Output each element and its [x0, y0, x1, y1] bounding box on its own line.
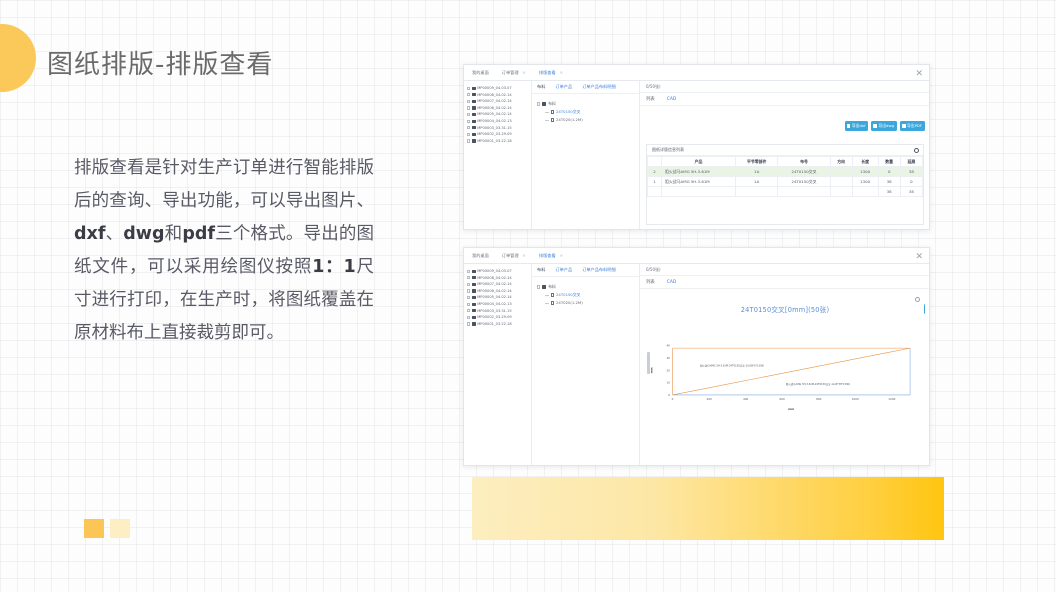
tab-list[interactable]: 列表: [646, 279, 655, 285]
folder-icon: [472, 309, 476, 312]
table-header-cell: [648, 157, 662, 167]
x-axis-tick: 400: [743, 397, 749, 401]
folder-icon: [472, 100, 476, 103]
tree-line: [545, 303, 549, 304]
table-cell: 阻火战马AMG 5H-3.61M: [662, 177, 736, 187]
nav-tab-label: 我的桌面: [472, 70, 489, 76]
table-cell: [852, 187, 878, 197]
checkbox-icon[interactable]: [467, 120, 470, 123]
file-icon: [551, 301, 554, 305]
tree-item-label: MP00004_04.02.13: [477, 118, 512, 125]
file-icon: [551, 118, 554, 122]
export-pdf-label: 导出PDF: [907, 123, 922, 129]
checkbox-icon[interactable]: [467, 309, 470, 312]
table-header-cell: 数量: [878, 157, 900, 167]
chart-title: 24T0150交叉[0mm](50张): [646, 304, 924, 314]
tree-item[interactable]: MP00008_04.02.14: [467, 92, 529, 99]
table-cell: 1: [648, 177, 662, 187]
x-axis-tick: 1000: [852, 397, 859, 401]
cad-chart-card: 24T0150交叉[0mm](50张) 01020304002004006008…: [646, 294, 924, 461]
folder-icon: [472, 296, 476, 299]
fabric-panel: 布料 订单产品 订单产品布料明细 布料 24T0150交叉: [532, 264, 640, 465]
tree-item-label: MP00002_03.29.09: [477, 131, 512, 138]
folder-icon: [472, 322, 476, 325]
table-header-cell: 平节零部件: [736, 157, 778, 167]
table-header-cell: 方向: [830, 157, 852, 167]
folder-icon: [472, 93, 476, 96]
checkbox-icon[interactable]: [467, 289, 470, 292]
nav-tab-label: 排版查看: [539, 70, 556, 76]
close-icon[interactable]: ✕: [560, 70, 563, 75]
nav-tab-label: 订单管理: [502, 253, 519, 259]
file-icon: [551, 110, 554, 114]
table-cell: 24T0150交叉: [778, 177, 830, 187]
tree-item-label: MP00008_04.02.14: [477, 275, 512, 282]
nav-tab-orders[interactable]: 订单管理 ✕: [502, 253, 526, 259]
tab-cad[interactable]: CAD: [667, 97, 676, 102]
checkbox-icon[interactable]: [467, 87, 470, 90]
table-cell: [830, 187, 852, 197]
table-cell: 2: [648, 167, 662, 177]
fabric-tree-child[interactable]: 24T020(1.2M): [537, 116, 639, 124]
table-row[interactable]: 2阻火战马AMG 5H-3.61M1A24T0150交叉1300038: [648, 167, 923, 177]
checkbox-icon[interactable]: [467, 270, 470, 273]
table-caption-label: 图纸详版信息列表: [652, 147, 684, 153]
table-cell: 0: [878, 167, 900, 177]
folder-icon: [472, 126, 476, 129]
folder-icon: [472, 316, 476, 319]
y-axis-tick: 10: [666, 381, 670, 385]
table-caption: 图纸详版信息列表: [647, 145, 923, 156]
nav-tab-layout-view[interactable]: 排版查看 ✕: [539, 70, 563, 76]
table-cell: 38: [878, 187, 900, 197]
tree-item[interactable]: MP00002_03.29.09: [467, 131, 529, 138]
tree-item[interactable]: MP00009_04.03.07: [467, 85, 529, 92]
close-icon[interactable]: ✕: [915, 253, 923, 262]
layout-detail-table-card: 图纸详版信息列表 产品平节零部件布号方向长度数量延展 2阻火战马AMG 5H-3…: [646, 144, 924, 225]
sheet-count-label: 0/50张): [640, 264, 929, 276]
folder-icon: [472, 270, 476, 273]
tree-item[interactable]: MP00006_04.02.14: [467, 288, 529, 295]
export-icon: [847, 124, 851, 128]
gear-icon[interactable]: [915, 297, 920, 302]
folder-icon: [472, 283, 476, 286]
decorative-gradient-bar: [472, 477, 944, 540]
tab-order-product[interactable]: 订单产品: [555, 84, 572, 90]
export-pdf-button[interactable]: 导出PDF: [900, 121, 925, 131]
checkbox-icon[interactable]: [467, 106, 470, 109]
nav-tab-label: 订单管理: [502, 70, 519, 76]
tree-item[interactable]: MP00002_03.29.09: [467, 314, 529, 321]
checkbox-icon[interactable]: [467, 283, 470, 286]
order-tree-panel: MP00009_04.03.07MP00008_04.02.14MP00007_…: [464, 81, 532, 229]
fabric-panel: 布料 订单产品 订单产品布料明细 布料 24T0150交叉: [532, 81, 640, 229]
export-icon: [902, 124, 906, 128]
tree-item[interactable]: MP00009_04.03.07: [467, 268, 529, 275]
folder-icon: [472, 139, 476, 142]
expand-icon[interactable]: [537, 102, 540, 105]
tree-item-label: MP00003_03.31.15: [477, 125, 512, 132]
tree-item-label: MP00001_03.22.18: [477, 138, 512, 145]
folder-icon: [472, 289, 476, 292]
chart-svg: 010203040020040060080010001200阻火战马AMG 5H…: [646, 320, 924, 432]
tree-item-label: MP00005_04.02.14: [477, 111, 512, 118]
tab-fabric[interactable]: 布料: [537, 267, 545, 273]
checkbox-icon[interactable]: [467, 113, 470, 116]
table-cell: 24T0150交叉: [778, 167, 830, 177]
fabric-tab-strip: 布料 订单产品 订单产品布料明细: [532, 264, 639, 277]
chart-annotation: 阻火战马AMG 5H-3.61M-24T0150交叉-1A(0*38*1300): [786, 382, 850, 386]
tree-line: [545, 112, 549, 113]
nav-tab-layout-view[interactable]: 排版查看 ✕: [539, 253, 563, 259]
tree-item[interactable]: MP00004_04.02.13: [467, 301, 529, 308]
table-cell: 1A: [736, 167, 778, 177]
checkbox-icon[interactable]: [467, 296, 470, 299]
nav-tab-strip: 我的桌面 订单管理 ✕ 排版查看 ✕: [464, 248, 929, 264]
tree-item[interactable]: MP00006_04.02.14: [467, 105, 529, 112]
file-icon: [551, 293, 554, 297]
tree-item-label: MP00003_03.31.15: [477, 308, 512, 315]
table-cell: [778, 187, 830, 197]
tree-item[interactable]: MP00007_04.02.14: [467, 98, 529, 105]
folder-icon: [542, 285, 546, 288]
table-cell: [648, 187, 662, 197]
cad-panel: 0/50张) 列表 CAD 导出dxf 导出dwg 导出PDF: [640, 264, 929, 465]
tree-item[interactable]: MP00005_04.02.14: [467, 294, 529, 301]
gear-icon[interactable]: [914, 148, 919, 153]
x-axis-tick: 600: [780, 397, 786, 401]
y-axis-label: mm: [649, 367, 653, 373]
close-icon[interactable]: ✕: [915, 70, 923, 79]
tree-item[interactable]: MP00005_04.02.14: [467, 111, 529, 118]
tab-fabric[interactable]: 布料: [537, 84, 545, 90]
export-dxf-button[interactable]: 导出dxf: [845, 121, 869, 131]
checkbox-icon[interactable]: [467, 93, 470, 96]
fabric-tree-child[interactable]: 24T020(1.2M): [537, 299, 639, 307]
tree-item-label: MP00007_04.02.14: [477, 281, 512, 288]
chart-annotation: 阻火战马AMG 5H-3.61M-24T0150交叉-1A(38*0*1300): [700, 364, 764, 368]
export-dxf-label: 导出dxf: [852, 123, 866, 129]
tree-line: [545, 120, 549, 121]
y-axis-tick: 20: [666, 368, 670, 372]
nav-tab-desktop[interactable]: 我的桌面: [472, 253, 489, 259]
close-icon[interactable]: ✕: [560, 253, 563, 258]
checkbox-icon[interactable]: [467, 316, 470, 319]
checkbox-icon[interactable]: [467, 139, 470, 142]
x-axis-label: mm: [788, 407, 794, 411]
checkbox-icon[interactable]: [467, 133, 470, 136]
tab-order-product-fabric-detail[interactable]: 订单产品布料明细: [582, 267, 616, 273]
table-cell: 0: [900, 177, 922, 187]
folder-icon: [472, 133, 476, 136]
screenshot-window-list: ✕ 我的桌面 订单管理 ✕ 排版查看 ✕ MP00009_04.03.07MP0…: [463, 64, 930, 230]
table-cell: 38: [878, 177, 900, 187]
table-cell: [830, 177, 852, 187]
folder-icon: [542, 102, 546, 105]
fabric-tree-child-label: 24T0150交叉: [556, 108, 580, 116]
tree-item-label: MP00001_03.22.18: [477, 321, 512, 328]
table-header-row: 产品平节零部件布号方向长度数量延展: [648, 157, 923, 167]
chart-plot-area: 010203040020040060080010001200阻火战马AMG 5H…: [646, 320, 924, 432]
fabric-tree-root[interactable]: 布料: [537, 100, 639, 108]
table-header-cell: 布号: [778, 157, 830, 167]
tree-item-label: MP00002_03.29.09: [477, 314, 512, 321]
tree-item[interactable]: MP00001_03.22.18: [467, 138, 529, 145]
nav-tab-desktop[interactable]: 我的桌面: [472, 70, 489, 76]
tree-item-label: MP00004_04.02.13: [477, 301, 512, 308]
nav-tab-label: 排版查看: [539, 253, 556, 259]
detail-tab-strip: 列表 CAD: [640, 276, 929, 289]
folder-icon: [472, 106, 476, 109]
folder-icon: [472, 87, 476, 90]
fabric-tree-root[interactable]: 布料: [537, 283, 639, 291]
fabric-tree-root-label: 布料: [548, 283, 556, 291]
checkbox-icon[interactable]: [467, 100, 470, 103]
x-axis-tick: 0: [672, 397, 674, 401]
fabric-tree-child[interactable]: 24T0150交叉: [537, 291, 639, 299]
folder-icon: [472, 276, 476, 279]
y-axis-tick: 0: [668, 393, 670, 397]
folder-icon: [472, 303, 476, 306]
tab-order-product[interactable]: 订单产品: [555, 267, 572, 273]
table-header-cell: 延展: [900, 157, 922, 167]
table-header-cell: 产品: [662, 157, 736, 167]
sheet-count-label: 0/50张): [640, 81, 929, 93]
chart-series-diagonal: [673, 348, 911, 395]
close-icon[interactable]: ✕: [523, 70, 526, 75]
tab-cad[interactable]: CAD: [667, 280, 676, 285]
detail-panel: 0/50张) 列表 CAD 导出dxf 导出dwg 导出PDF: [640, 81, 929, 229]
body-paragraph: 排版查看是针对生产订单进行智能排版后的查询、导出功能，可以导出图片、dxf、dw…: [74, 152, 374, 350]
y-axis-tick: 30: [666, 356, 670, 360]
nav-tab-label: 我的桌面: [472, 253, 489, 259]
export-icon: [873, 124, 877, 128]
tree-item-label: MP00009_04.03.07: [477, 268, 512, 275]
x-axis-tick: 1200: [888, 397, 895, 401]
checkbox-icon[interactable]: [467, 276, 470, 279]
fabric-tree-child[interactable]: 24T0150交叉: [537, 108, 639, 116]
expand-icon[interactable]: [537, 285, 540, 288]
close-icon[interactable]: ✕: [523, 253, 526, 258]
fabric-tree: 布料 24T0150交叉 24T020(1.2M): [532, 94, 639, 124]
x-axis-tick: 200: [706, 397, 712, 401]
table-cell: 1A: [736, 177, 778, 187]
tree-item[interactable]: MP00008_04.02.14: [467, 275, 529, 282]
y-axis-tick: 40: [666, 344, 670, 348]
tree-item-label: MP00006_04.02.14: [477, 105, 512, 112]
x-axis-tick: 800: [816, 397, 822, 401]
fabric-tree: 布料 24T0150交叉 24T020(1.2M): [532, 277, 639, 307]
tab-list[interactable]: 列表: [646, 96, 655, 102]
folder-icon: [472, 113, 476, 116]
table-cell: [830, 167, 852, 177]
export-button-group: 导出dxf 导出dwg 导出PDF: [845, 121, 925, 131]
detail-tab-strip: 列表 CAD: [640, 93, 929, 106]
fabric-tree-root-label: 布料: [548, 100, 556, 108]
export-dwg-button[interactable]: 导出dwg: [871, 121, 897, 131]
fabric-tree-child-label: 24T020(1.2M): [556, 299, 583, 307]
order-tree-panel: MP00009_04.03.07MP00008_04.02.14MP00007_…: [464, 264, 532, 465]
tree-item[interactable]: MP00003_03.31.15: [467, 308, 529, 315]
tree-item[interactable]: MP00007_04.02.14: [467, 281, 529, 288]
fabric-tab-strip: 布料 订单产品 订单产品布料明细: [532, 81, 639, 94]
fabric-tree-child-label: 24T020(1.2M): [556, 116, 583, 124]
folder-icon: [472, 120, 476, 123]
table-row[interactable]: 3838: [648, 187, 923, 197]
tree-item-label: MP00009_04.03.07: [477, 85, 512, 92]
nav-tab-orders[interactable]: 订单管理 ✕: [502, 70, 526, 76]
table-cell: 38: [900, 187, 922, 197]
decorative-circle: [0, 24, 36, 92]
tree-line: [545, 295, 549, 296]
screenshot-window-cad: ✕ 我的桌面 订单管理 ✕ 排版查看 ✕ MP00009_04.03.07MP0…: [463, 247, 930, 466]
table-cell: 阻火战马AMG 5H-3.61M: [662, 167, 736, 177]
table-cell: [736, 187, 778, 197]
nav-tab-strip: 我的桌面 订单管理 ✕ 排版查看 ✕: [464, 65, 929, 81]
layout-detail-table: 产品平节零部件布号方向长度数量延展 2阻火战马AMG 5H-3.61M1A24T…: [647, 156, 923, 197]
tab-order-product-fabric-detail[interactable]: 订单产品布料明细: [582, 84, 616, 90]
export-dwg-label: 导出dwg: [878, 123, 894, 129]
fabric-tree-child-label: 24T0150交叉: [556, 291, 580, 299]
table-cell: 1300: [852, 167, 878, 177]
table-cell: 1300: [852, 177, 878, 187]
tree-item-label: MP00007_04.02.14: [477, 98, 512, 105]
checkbox-icon[interactable]: [467, 322, 470, 325]
table-header-cell: 长度: [852, 157, 878, 167]
page-title: 图纸排版-排版查看: [47, 44, 273, 81]
tree-item[interactable]: MP00004_04.02.13: [467, 118, 529, 125]
tree-item[interactable]: MP00001_03.22.18: [467, 321, 529, 328]
tree-item-label: MP00005_04.02.14: [477, 294, 512, 301]
checkbox-icon[interactable]: [467, 303, 470, 306]
checkbox-icon[interactable]: [467, 126, 470, 129]
decorative-square-light: [110, 519, 130, 538]
tree-item-label: MP00006_04.02.14: [477, 288, 512, 295]
table-row[interactable]: 1阻火战马AMG 5H-3.61M1A24T0150交叉1300380: [648, 177, 923, 187]
table-cell: 38: [900, 167, 922, 177]
tree-item-label: MP00008_04.02.14: [477, 92, 512, 99]
tree-item[interactable]: MP00003_03.31.15: [467, 125, 529, 132]
table-cell: [662, 187, 736, 197]
decorative-square-solid: [84, 519, 104, 538]
